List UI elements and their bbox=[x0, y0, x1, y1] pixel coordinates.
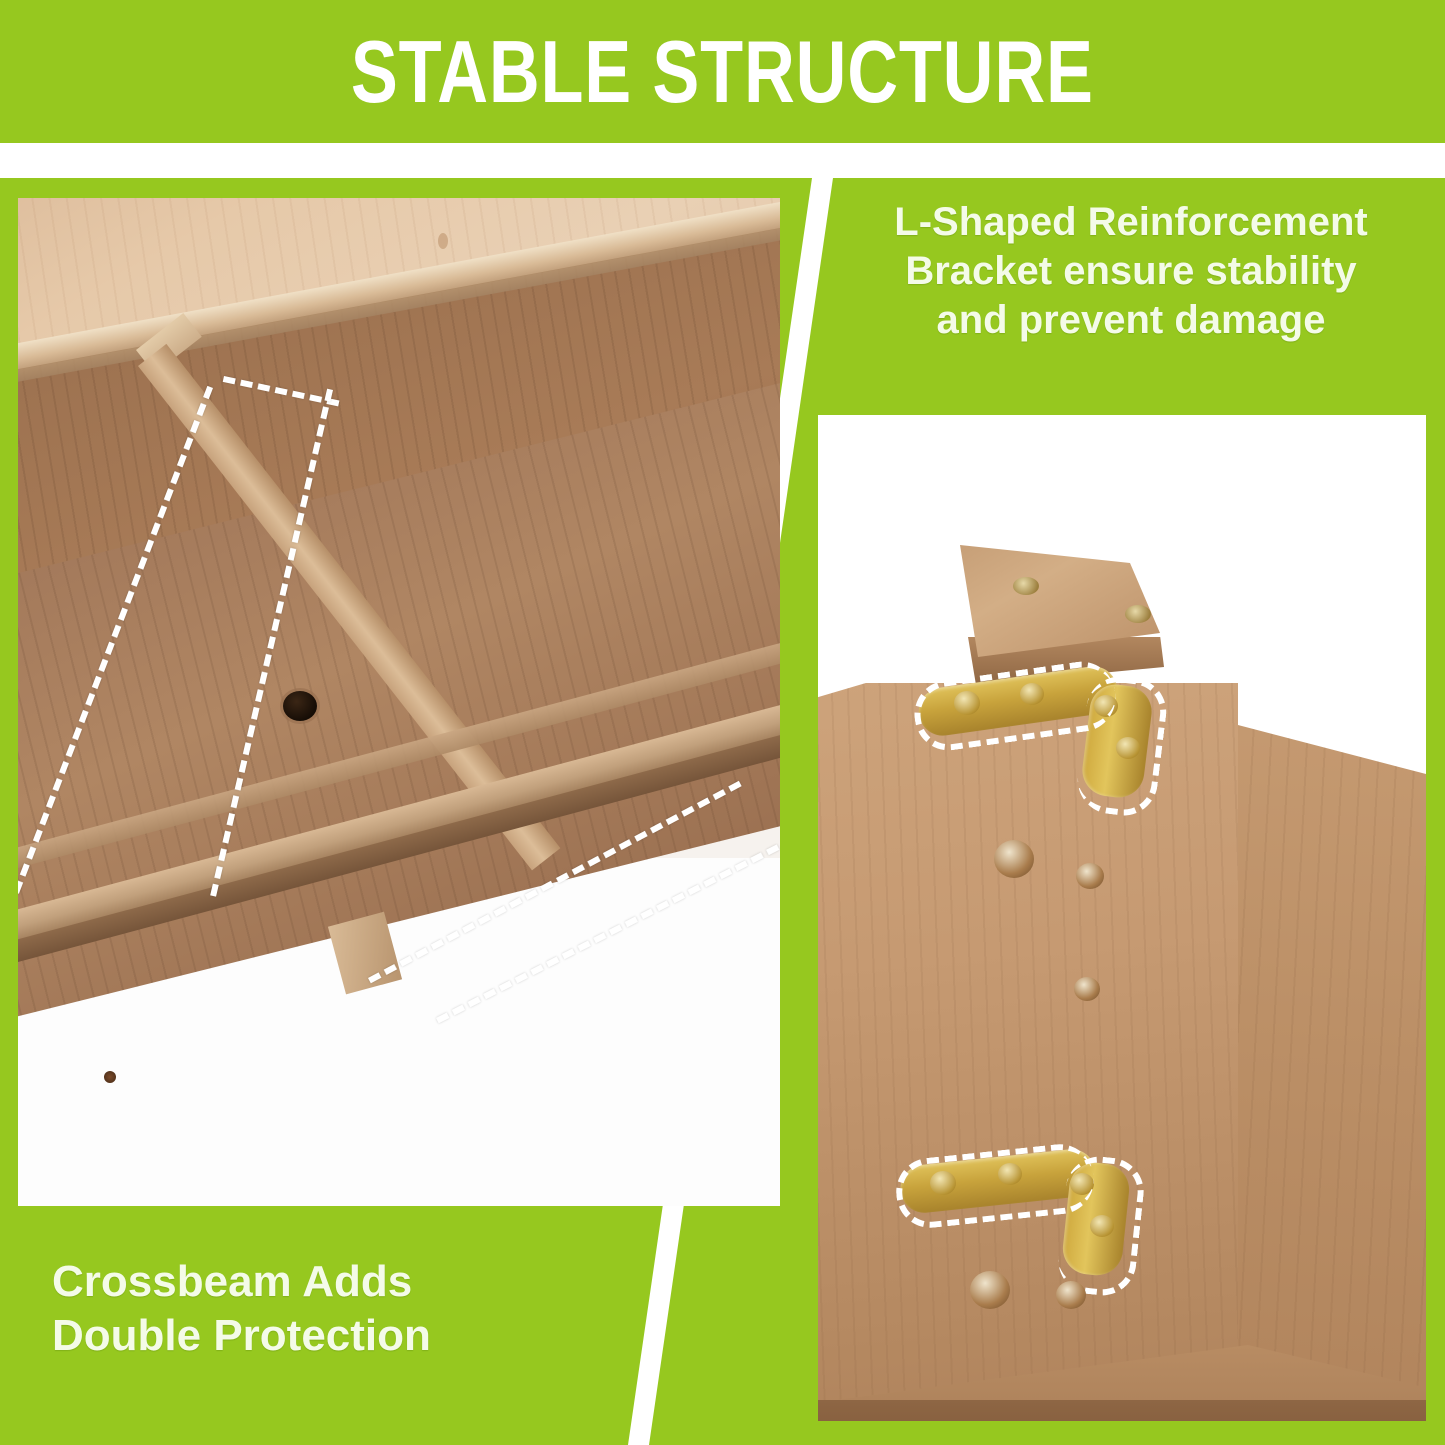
screw-head-icon bbox=[104, 1071, 116, 1083]
left-caption-line-2: Double Protection bbox=[52, 1309, 612, 1363]
right-caption: L-Shaped Reinforcement Bracket ensure st… bbox=[826, 198, 1436, 346]
left-caption-line-1: Crossbeam Adds bbox=[52, 1255, 612, 1309]
shelf-shadow bbox=[818, 1400, 1426, 1421]
left-side-board bbox=[818, 683, 1258, 1421]
screw-head-icon bbox=[1125, 605, 1151, 623]
left-caption: Crossbeam Adds Double Protection bbox=[52, 1255, 612, 1362]
wood-grain-texture bbox=[1238, 665, 1426, 1421]
right-product-photo bbox=[818, 415, 1426, 1421]
wood-knot bbox=[438, 233, 448, 249]
screw-head-icon bbox=[1013, 577, 1039, 595]
infographic-canvas: STABLE STRUCTURE bbox=[0, 0, 1445, 1445]
wood-grain-texture bbox=[818, 683, 1258, 1421]
right-caption-line-1: L-Shaped Reinforcement bbox=[826, 198, 1436, 247]
bolt-hole bbox=[283, 691, 317, 721]
screw-head-icon bbox=[994, 840, 1034, 878]
page-title: STABLE STRUCTURE bbox=[351, 30, 1094, 114]
screw-head-icon bbox=[1076, 863, 1104, 889]
right-caption-line-2: Bracket ensure stability bbox=[826, 247, 1436, 296]
screw-head-icon bbox=[1056, 1281, 1086, 1309]
screw-head-icon bbox=[970, 1271, 1010, 1309]
right-caption-line-3: and prevent damage bbox=[826, 296, 1436, 345]
right-side-board bbox=[1238, 665, 1426, 1421]
left-product-photo bbox=[18, 198, 780, 1206]
header-banner: STABLE STRUCTURE bbox=[0, 0, 1445, 143]
screw-head-icon bbox=[1074, 977, 1100, 1001]
